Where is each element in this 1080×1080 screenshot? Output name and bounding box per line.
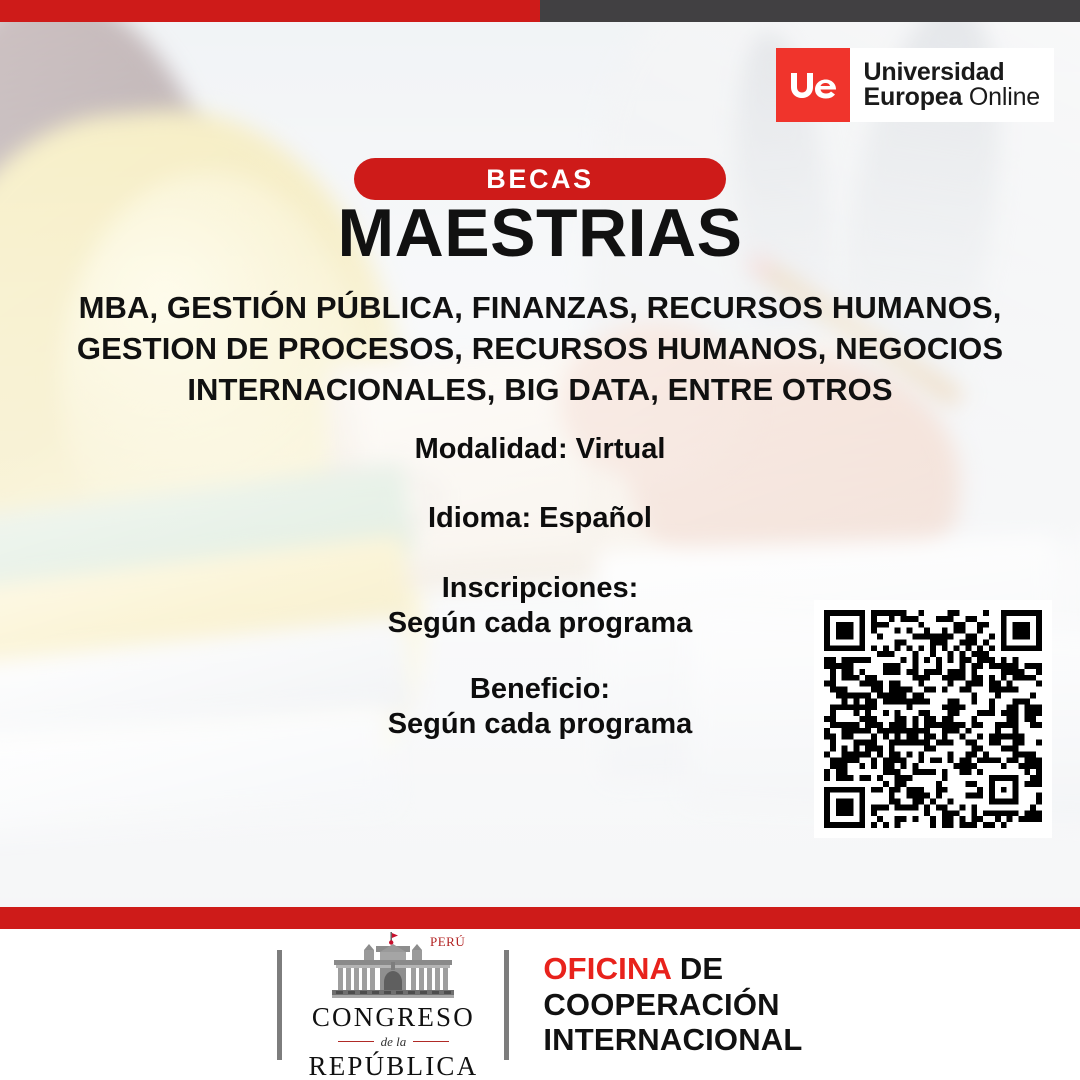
- congreso-dela-label: de la: [381, 1034, 407, 1050]
- congreso-rule-right: [413, 1041, 449, 1043]
- ue-logo-mark-icon: [776, 48, 850, 122]
- svg-text:PERÚ: PERÚ: [430, 934, 465, 949]
- detail-beneficio-label: Beneficio:: [470, 673, 610, 705]
- oficina-line-3: INTERNACIONAL: [543, 1022, 802, 1058]
- oficina-word-de: DE: [671, 951, 723, 986]
- poster-title: MAESTRIAS: [0, 198, 1080, 269]
- congreso-republica-logo: PERÚ CONGRESO de la REPÚBLICA: [282, 930, 504, 1080]
- oficina-cooperacion-block: OFICINA DE COOPERACIÓN INTERNACIONAL: [509, 951, 802, 1059]
- program-line-1: MBA, GESTIÓN PÚBLICA, FINANZAS, RECURSOS…: [60, 288, 1020, 329]
- detail-idioma: Idioma: Español: [0, 501, 1080, 536]
- program-line-2: GESTION DE PROCESOS, RECURSOS HUMANOS, N…: [60, 329, 1020, 370]
- oficina-line-1: OFICINA DE: [543, 951, 802, 987]
- oficina-word-red: OFICINA: [543, 951, 671, 986]
- congress-building-icon: PERÚ: [318, 930, 468, 1004]
- oficina-line-2: COOPERACIÓN: [543, 987, 802, 1023]
- ue-logo-line-1: Universidad: [864, 60, 1040, 85]
- qr-code[interactable]: [814, 600, 1052, 838]
- congreso-label: CONGRESO: [312, 1004, 475, 1031]
- bottom-accent-bar: [0, 907, 1080, 929]
- ue-logo-europea: Europea: [864, 83, 963, 111]
- poster-canvas: Universidad Europea Online BECAS MAESTRI…: [0, 0, 1080, 1080]
- ue-logo-line-2: Europea Online: [864, 85, 1040, 110]
- universidad-europea-logo: Universidad Europea Online: [776, 48, 1054, 122]
- program-list: MBA, GESTIÓN PÚBLICA, FINANZAS, RECURSOS…: [60, 288, 1020, 411]
- top-accent-bar: [0, 0, 1080, 22]
- congreso-dela-row: de la: [308, 1034, 478, 1050]
- ue-logo-wordmark: Universidad Europea Online: [850, 60, 1040, 110]
- program-line-3: INTERNACIONALES, BIG DATA, ENTRE OTROS: [60, 370, 1020, 411]
- poster-footer: PERÚ CONGRESO de la REPÚBLICA OFICINA DE…: [0, 929, 1080, 1080]
- ue-logo-online: Online: [969, 83, 1040, 111]
- top-bar-red-segment: [0, 0, 540, 22]
- becas-badge-label: BECAS: [486, 164, 594, 195]
- detail-modalidad-label: Modalidad: Virtual: [415, 433, 666, 465]
- detail-inscripciones-label: Inscripciones:: [442, 572, 639, 604]
- becas-badge: BECAS: [354, 158, 726, 200]
- congreso-rule-left: [338, 1041, 374, 1043]
- republica-label: REPÚBLICA: [308, 1053, 478, 1080]
- top-bar-dark-segment: [540, 0, 1080, 22]
- detail-idioma-label: Idioma: Español: [428, 502, 652, 534]
- detail-modalidad: Modalidad: Virtual: [0, 432, 1080, 467]
